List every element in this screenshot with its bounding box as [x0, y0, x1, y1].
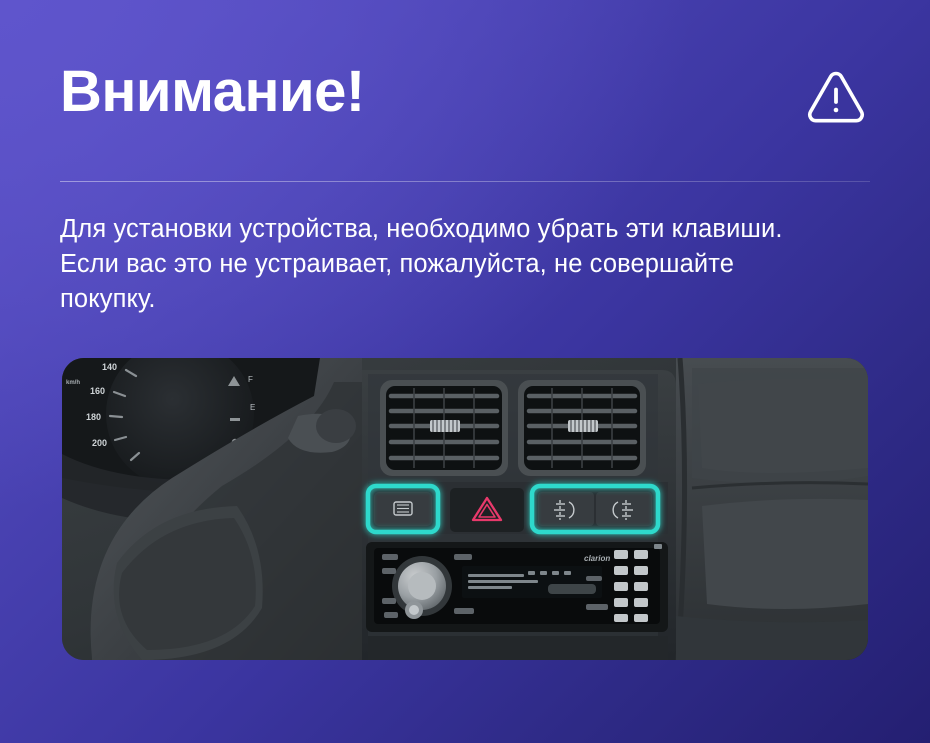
notice-line-2: Если вас это не устраивает, пожалуйста, … [60, 247, 860, 282]
svg-text:E: E [250, 403, 255, 412]
rear-fog-light-button[interactable] [596, 492, 652, 526]
warning-triangle-icon [802, 64, 870, 132]
front-fog-light-button[interactable] [538, 492, 594, 526]
svg-text:180: 180 [86, 412, 101, 422]
svg-text:F: F [248, 375, 253, 384]
rear-defroster-button[interactable] [374, 492, 432, 526]
dashboard-photo: 140 160 180 200 km/h F E H C [62, 358, 868, 660]
svg-text:km/h: km/h [66, 380, 80, 386]
center-console: clarion [362, 370, 676, 660]
svg-text:160: 160 [90, 386, 105, 396]
switch-row [368, 482, 668, 534]
notice-line-3: покупку. [60, 282, 860, 317]
notice-text: Для установки устройства, необходимо убр… [60, 212, 860, 317]
svg-text:clarion: clarion [584, 554, 610, 563]
svg-text:140: 140 [102, 362, 117, 372]
header-divider [60, 181, 870, 182]
page-header: Внимание! [60, 56, 870, 142]
hazard-warning-button[interactable] [450, 488, 524, 532]
warning-notice-page: Внимание! Для установки устройства, необ… [0, 0, 930, 743]
car-stereo: clarion [366, 542, 668, 632]
notice-line-1: Для установки устройства, необходимо убр… [60, 212, 860, 247]
svg-text:200: 200 [92, 438, 107, 448]
passenger-dash [676, 358, 868, 660]
page-title: Внимание! [60, 56, 365, 128]
